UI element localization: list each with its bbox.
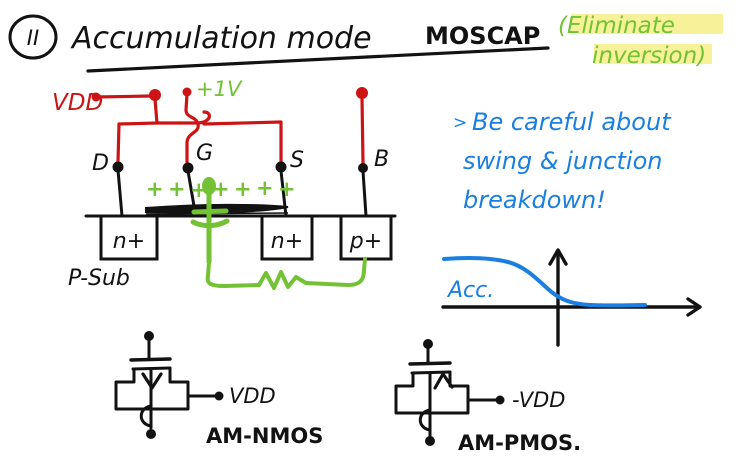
charge-plus-5: + [234,177,252,201]
pmos-caption: AM-PMOS. [458,431,581,455]
nmos-left-body-outline [116,369,152,409]
pmos-supply-terminal-dot [496,396,505,405]
note-bullet: > [453,113,467,133]
nmos-caption: AM-NMOS [206,424,323,448]
symbol-am-pmos: -VDD AM-PMOS. [396,339,581,455]
body-supply-wire [362,97,363,163]
device-cross-section: VDD +1V D G S B + + + + + + + [52,77,395,291]
note-line-3: breakdown! [463,186,606,214]
supply-bus-hop [198,112,209,123]
charge-plus-6: + [256,176,274,200]
nmos-right-body-outline [152,368,188,409]
region-label-nplus-drain: n+ [113,229,145,254]
charge-plus-7: + [278,177,296,201]
green-cap-plate-upper [194,211,226,212]
gate-bias-label: +1V [196,77,243,101]
region-label-pplus-body: p+ [349,229,382,254]
pmos-terminal-label: -VDD [512,388,565,412]
pmos-right-body-outline [431,372,468,413]
charge-plus-2: + [168,177,186,201]
nmos-bottom-terminal-dot [146,429,156,439]
substrate-group: n+ n+ p+ P-Sub [68,216,395,291]
body-lead [363,171,366,216]
pmos-left-body-outline [396,373,431,413]
cv-plot: Acc. [443,250,700,345]
region-label-nplus-source: n+ [271,229,303,254]
header-group: II Accumulation mode MOSCAP (Eliminate i… [10,13,723,71]
vdd-top-wire [96,96,152,97]
cv-curve-annotation: Acc. [446,278,494,303]
terminal-label-source: S [290,148,304,173]
notes-page: II Accumulation mode MOSCAP (Eliminate i… [0,0,739,460]
source-supply-wire [204,122,281,162]
note-line-2: swing & junction [463,147,662,175]
green-wire-left [208,262,259,286]
drain-lead [118,170,122,216]
drain-supply-wire [118,99,157,162]
green-resistor-zigzag [259,272,306,288]
page-title: Accumulation mode [70,21,372,56]
nmos-terminal-label: VDD [229,384,276,408]
vdd-label: VDD [52,90,103,116]
whiteboard-canvas: II Accumulation mode MOSCAP (Eliminate i… [0,0,739,460]
substrate-label: P-Sub [68,266,130,291]
terminal-label-drain: D [92,151,109,176]
aside-line1: (Eliminate [558,13,675,39]
nmos-gate-plate [131,359,170,360]
terminal-label-body: B [374,147,389,172]
charge-plus-1: + [146,177,164,201]
pmos-gate-plate [410,363,450,364]
warning-note-group: > Be careful about swing & junction brea… [453,108,672,214]
page-title-suffix: MOSCAP [425,22,540,50]
section-number: II [27,26,39,50]
aside-line2: inversion) [592,43,706,69]
nmos-supply-terminal-dot [215,392,224,401]
surface-charge-group: + + + + + + + [146,176,296,202]
note-line-1: Be careful about [472,108,672,136]
pmos-bottom-terminal-dot [425,436,435,446]
green-wire-right [306,259,365,285]
symbol-am-nmos: VDD AM-NMOS [116,331,323,448]
terminal-label-gate: G [196,141,213,166]
